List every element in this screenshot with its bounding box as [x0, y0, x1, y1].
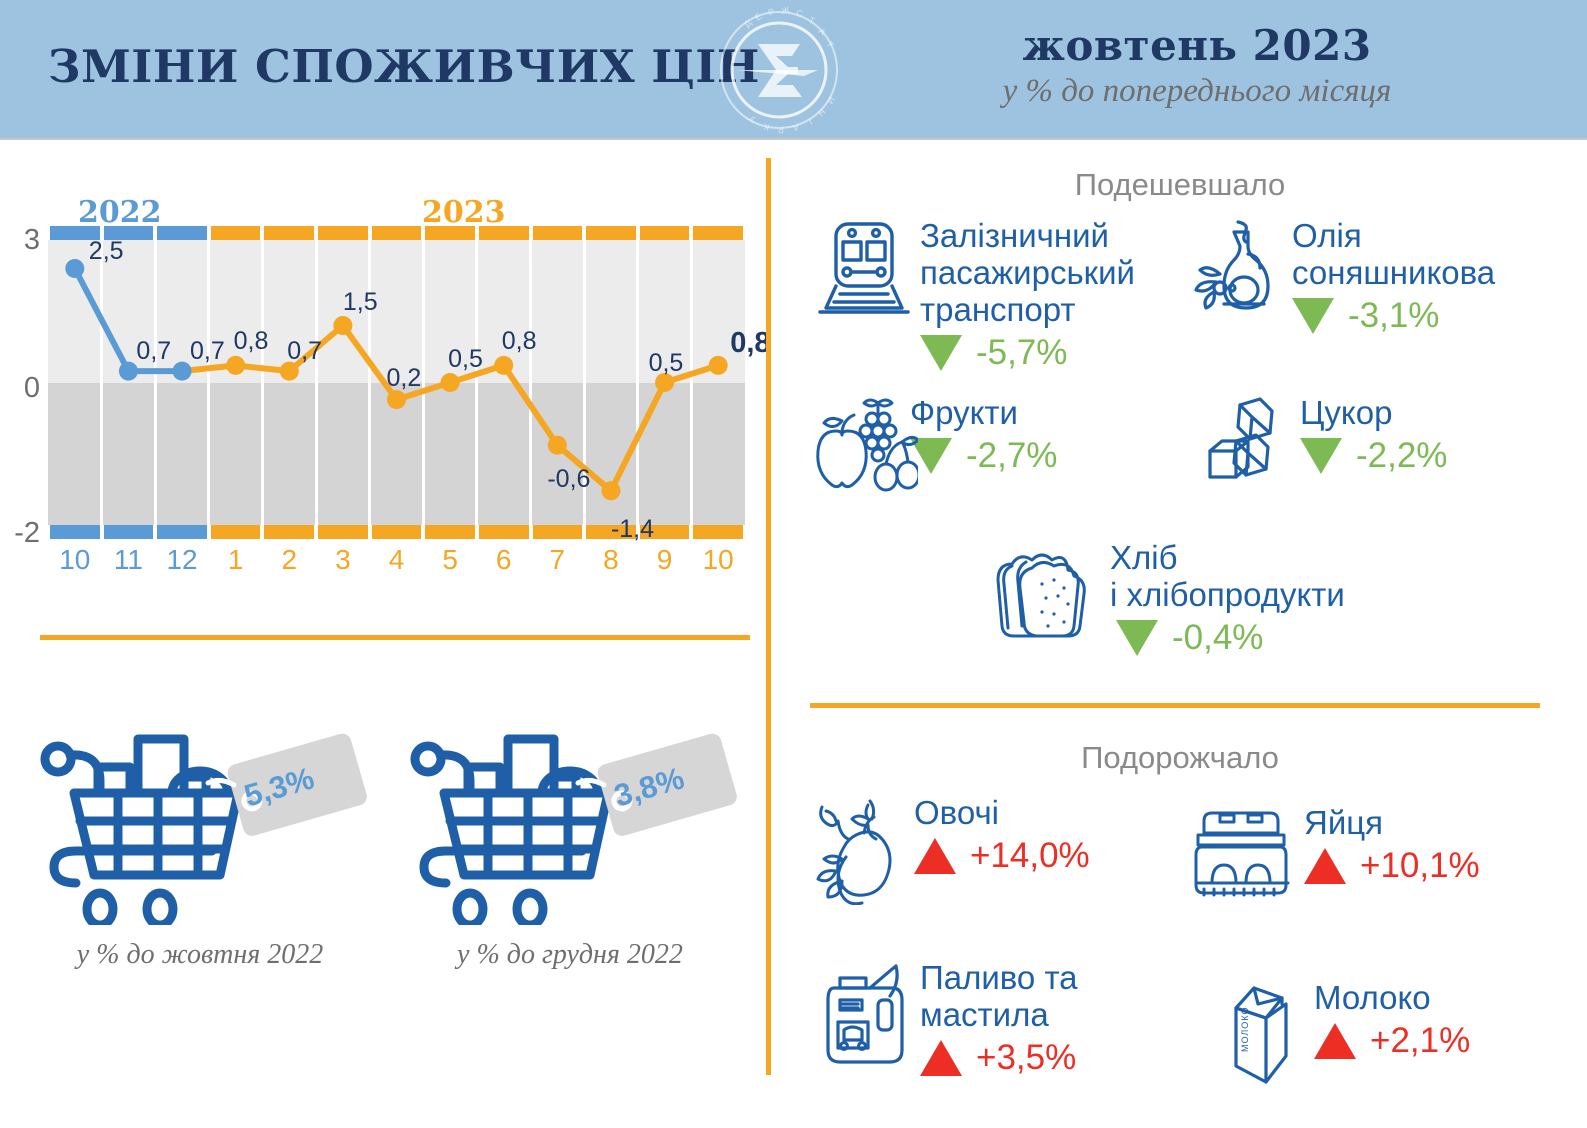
eggs-icon — [1190, 805, 1294, 905]
chart-point-label: 0,2 — [387, 364, 422, 393]
chart-year-band-segment — [693, 525, 743, 539]
chart-year-band-segment — [104, 525, 154, 539]
increased-item-eggs: Яйця +10,1% — [1190, 805, 1480, 905]
chart-top-year-band — [48, 226, 745, 240]
svg-text:Р: Р — [778, 125, 784, 135]
right-section-divider — [810, 703, 1540, 708]
item-label: Залізничний пасажирський транспорт — [920, 218, 1135, 329]
train-icon — [818, 218, 910, 318]
chart-xtick: 8 — [581, 544, 641, 576]
oil-bottle-icon — [1190, 218, 1282, 318]
chart-point-label: 1,5 — [343, 288, 378, 317]
chart-xtick: 1 — [206, 544, 266, 576]
header-period: жовтень 2023 у % до попереднього місяця — [917, 22, 1477, 112]
increased-item-milk: МОЛОКО Молоко +2,1% — [1220, 980, 1470, 1080]
bread-icon — [990, 540, 1100, 640]
arrow-down-icon — [1300, 438, 1342, 474]
chart-year-band-segment — [425, 226, 475, 240]
chart-year-band-segment — [479, 226, 529, 240]
fuel-canister-icon — [818, 960, 910, 1060]
arrow-down-icon — [1116, 620, 1158, 656]
item-value: -2,7% — [966, 436, 1057, 476]
chart-xtick: 6 — [474, 544, 534, 576]
chart-year-band-segment — [318, 525, 368, 539]
chart-year-band-segment — [533, 226, 583, 240]
chart-year-band-segment — [157, 226, 207, 240]
item-value: +3,5% — [976, 1038, 1076, 1078]
item-value: -2,2% — [1356, 436, 1447, 476]
svg-text:Ж: Ж — [781, 5, 792, 16]
chart-year-band-segment — [693, 226, 743, 240]
chart-year-band-segment — [157, 525, 207, 539]
item-value: -0,4% — [1172, 618, 1263, 658]
increased-item-fuel: Паливо та мастила +3,5% — [818, 960, 1078, 1078]
decreased-item-rail-transport: Залізничний пасажирський транспорт -5,7% — [818, 218, 1135, 373]
chart-xtick: 2 — [259, 544, 319, 576]
chart-year-band-segment — [372, 226, 422, 240]
item-label: Паливо та мастила — [920, 960, 1078, 1034]
column-divider — [766, 158, 771, 1075]
header-subtitle: у % до попереднього місяця — [917, 71, 1477, 112]
fruits-icon — [808, 395, 900, 495]
chart-year-band-segment — [211, 226, 261, 240]
chart-year-band-segment — [211, 525, 261, 539]
decreased-item-bread: Хліб і хлібопродукти -0,4% — [990, 540, 1345, 658]
svg-text:А: А — [792, 122, 800, 133]
chart-year-band-segment — [264, 525, 314, 539]
right-column: Подешевшало Залізни — [790, 140, 1587, 1128]
chart-xtick: 7 — [527, 544, 587, 576]
item-label: Молоко — [1314, 980, 1470, 1017]
chart-point-label: 0,7 — [136, 337, 171, 366]
cart-comparison-block: 5,3% у % до жовтня 2022 — [0, 715, 768, 1015]
chart-point-label: 0,5 — [649, 349, 684, 378]
sugar-cubes-icon — [1198, 395, 1290, 495]
chart-xtick: 5 — [420, 544, 480, 576]
cpi-line-chart: 2022 2023 3 0 -2 101112123456789102,50,7… — [0, 140, 768, 570]
item-label: Яйця — [1304, 805, 1480, 842]
chart-xtick: 12 — [152, 544, 212, 576]
arrow-down-icon — [1292, 298, 1334, 334]
chart-xtick: 10 — [688, 544, 748, 576]
cart-item: 3,8% у % до грудня 2022 — [390, 715, 750, 971]
page-title: ЗМІНИ СПОЖИВЧИХ ЦІН — [48, 40, 760, 93]
cart-caption: у % до грудня 2022 — [390, 939, 750, 971]
chart-ytick-neg2: -2 — [0, 517, 40, 550]
vegetables-icon — [812, 795, 904, 895]
chart-year-band-segment — [533, 525, 583, 539]
chart-point-label: -1,4 — [611, 515, 654, 544]
chart-year-band-segment — [50, 525, 100, 539]
chart-year-band-segment — [640, 226, 690, 240]
shopping-cart-icon: 5,3% — [20, 715, 380, 925]
item-value: +14,0% — [970, 836, 1090, 876]
shopping-cart-icon: 3,8% — [390, 715, 750, 925]
milk-carton-icon: МОЛОКО — [1220, 980, 1304, 1080]
left-section-divider — [40, 635, 750, 640]
item-value: +2,1% — [1370, 1021, 1470, 1061]
chart-point-label: 0,8 — [730, 327, 770, 360]
chart-point-label: 2,5 — [89, 237, 124, 266]
arrow-up-icon — [914, 838, 956, 874]
left-column: 2022 2023 3 0 -2 101112123456789102,50,7… — [0, 140, 768, 1128]
chart-year-band-segment — [318, 226, 368, 240]
chart-xtick: 10 — [45, 544, 105, 576]
svg-text:Е: Е — [753, 11, 764, 23]
increased-heading: Подорожчало — [810, 740, 1550, 776]
decreased-item-fruits: Фрукти -2,7% — [808, 395, 1057, 495]
chart-xtick: 11 — [98, 544, 158, 576]
chart-xtick: 4 — [367, 544, 427, 576]
item-value: +10,1% — [1360, 846, 1480, 886]
svg-text:МОЛОКО: МОЛОКО — [1240, 1007, 1250, 1052]
chart-ytick-0: 0 — [4, 372, 40, 405]
chart-xtick: 9 — [635, 544, 695, 576]
item-label: Овочі — [914, 795, 1090, 832]
chart-point-label: 0,5 — [448, 345, 483, 374]
item-value: -3,1% — [1348, 296, 1439, 336]
decreased-item-sugar: Цукор -2,2% — [1198, 395, 1447, 495]
chart-xtick: 3 — [313, 544, 373, 576]
chart-year-band-segment — [372, 525, 422, 539]
arrow-up-icon — [1314, 1023, 1356, 1059]
item-value: -5,7% — [976, 333, 1067, 373]
chart-year-band-segment — [264, 226, 314, 240]
item-label: Хліб і хлібопродукти — [1110, 540, 1345, 614]
arrow-up-icon — [1304, 848, 1346, 884]
decreased-heading: Подешевшало — [810, 167, 1550, 203]
decreased-item-sunflower-oil: Олія соняшникова -3,1% — [1190, 218, 1495, 336]
chart-year-label-2022: 2022 — [78, 195, 162, 230]
item-label: Цукор — [1300, 395, 1447, 432]
increased-item-vegetables: Овочі +14,0% — [812, 795, 1090, 895]
header-month: жовтень 2023 — [917, 22, 1477, 69]
chart-point-label: 0,8 — [234, 327, 269, 356]
chart-year-label-2023: 2023 — [422, 195, 506, 230]
svg-text:Н: Н — [816, 107, 828, 119]
chart-year-band-segment — [425, 525, 475, 539]
item-label: Олія соняшникова — [1292, 218, 1495, 292]
chart-point-label: 0,7 — [190, 337, 225, 366]
chart-year-band-segment — [479, 525, 529, 539]
arrow-up-icon — [920, 1040, 962, 1076]
chart-point-label: 0,7 — [287, 337, 322, 366]
arrow-down-icon — [920, 335, 962, 371]
cart-item: 5,3% у % до жовтня 2022 — [20, 715, 380, 971]
item-label: Фрукти — [910, 395, 1057, 432]
chart-ytick-3: 3 — [4, 224, 40, 257]
cart-caption: у % до жовтня 2022 — [20, 939, 380, 971]
chart-point-label: 0,8 — [502, 327, 537, 356]
derzhstat-logo-icon: Д Е Р Ж С Т А Т И Н І А Р К У — [718, 4, 840, 136]
chart-year-band-segment — [586, 226, 636, 240]
svg-text:К: К — [762, 121, 771, 132]
chart-point-label: -0,6 — [547, 465, 590, 494]
svg-text:Т: Т — [824, 40, 836, 51]
page-header: ЗМІНИ СПОЖИВЧИХ ЦІН Д Е Р Ж С Т А Т И Н … — [0, 0, 1587, 140]
